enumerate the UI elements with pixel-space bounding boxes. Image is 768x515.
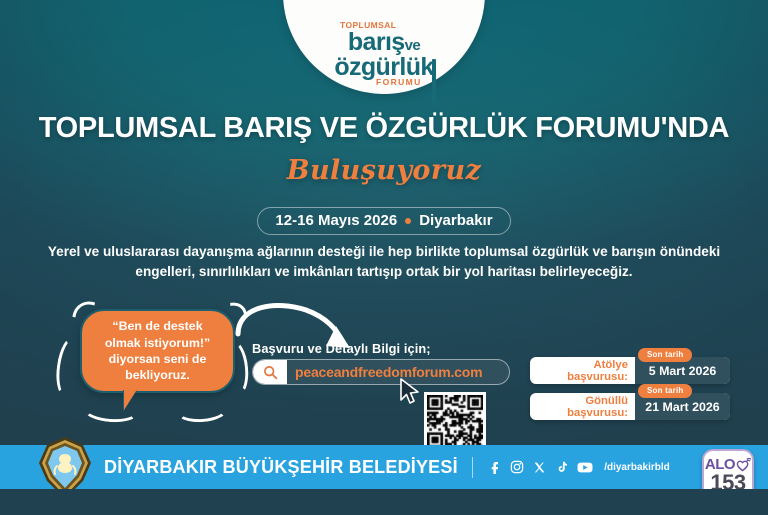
municipality-name: DİYARBAKIR BÜYÜKŞEHİR BELEDİYESİ (104, 457, 458, 478)
website-search-bar[interactable]: peaceandfreedomforum.com (252, 359, 510, 385)
bullet-separator-icon (405, 218, 411, 224)
footer-divider (472, 457, 473, 478)
bubble-line-3: diyorsan seni de (109, 352, 207, 366)
logo-line-one: barışve (334, 30, 433, 55)
website-url[interactable]: peaceandfreedomforum.com (287, 364, 482, 380)
deadline-tag: Son tarih (638, 384, 692, 398)
description-paragraph: Yerel ve uluslararası dayanışma ağlarını… (36, 242, 732, 283)
social-handle[interactable]: /diyarbakirbld (604, 462, 670, 473)
bubble-line-1: “Ben de destek (112, 319, 202, 333)
footer-bar: DİYARBAKIR BÜYÜKŞEHİR BELEDİYESİ (0, 445, 768, 489)
youtube-icon[interactable] (577, 461, 593, 474)
deadline-row-workshop: Son tarih Atölye başvurusu: 5 Mart 2026 (530, 357, 730, 384)
date-range: 12-16 Mayıs 2026 (275, 212, 397, 229)
instagram-icon[interactable] (510, 460, 524, 474)
forum-logo: TOPLUMSAL barışve özgürlük FORUMU (334, 21, 433, 94)
bubble-line-2: olmak istiyorum!” (105, 336, 210, 350)
facebook-icon[interactable] (487, 460, 501, 474)
page-title: TOPLUMSAL BARIŞ VE ÖZGÜRLÜK FORUMU'NDA (0, 112, 768, 145)
deadline-label: Gönüllü başvurusu: (530, 395, 635, 419)
logo-baris: barış (348, 28, 405, 56)
bottom-strip (0, 489, 768, 515)
script-subtitle: Buluşuyoruz (0, 155, 768, 186)
social-icons: /diyarbakirbld (487, 460, 670, 474)
x-twitter-icon[interactable] (533, 461, 546, 474)
logo-ozgurluk: özgürlük (334, 53, 433, 81)
qr-code[interactable] (424, 392, 486, 450)
poster-canvas: TOPLUMSAL barışve özgürlük FORUMU TOPLUM… (0, 0, 768, 515)
decor-stroke-icon (175, 396, 229, 424)
footer-content: DİYARBAKIR BÜYÜKŞEHİR BELEDİYESİ (104, 457, 670, 478)
deadline-label: Atölye başvurusu: (530, 359, 635, 383)
date-pill: 12-16 Mayıs 2026 Diyarbakır (257, 207, 510, 235)
logo-top-word: TOPLUMSAL (340, 21, 434, 30)
logo-line-two: özgürlük (334, 55, 433, 80)
tiktok-icon[interactable] (555, 460, 568, 474)
cursor-arrow-icon (399, 378, 421, 404)
search-icon (253, 360, 287, 384)
bubble-line-4: bekliyoruz. (125, 368, 190, 382)
deadline-tag: Son tarih (638, 348, 692, 362)
date-row: 12-16 Mayıs 2026 Diyarbakır (0, 207, 768, 235)
logo-arc: TOPLUMSAL barışve özgürlük FORUMU (283, 0, 485, 94)
speech-bubble-text: “Ben de destek olmak istiyorum!” diyorsa… (99, 318, 216, 384)
logo-bar-mark (432, 59, 436, 103)
logo-ve: ve (405, 37, 421, 54)
deadline-row-volunteer: Son tarih Gönüllü başvurusu: 21 Mart 202… (530, 393, 730, 420)
speech-bubble: “Ben de destek olmak istiyorum!” diyorsa… (80, 309, 235, 393)
application-label: Başvuru ve Detaylı Bilgi için; (252, 341, 431, 356)
speech-bubble-tail (124, 388, 138, 410)
date-city: Diyarbakır (419, 212, 492, 229)
